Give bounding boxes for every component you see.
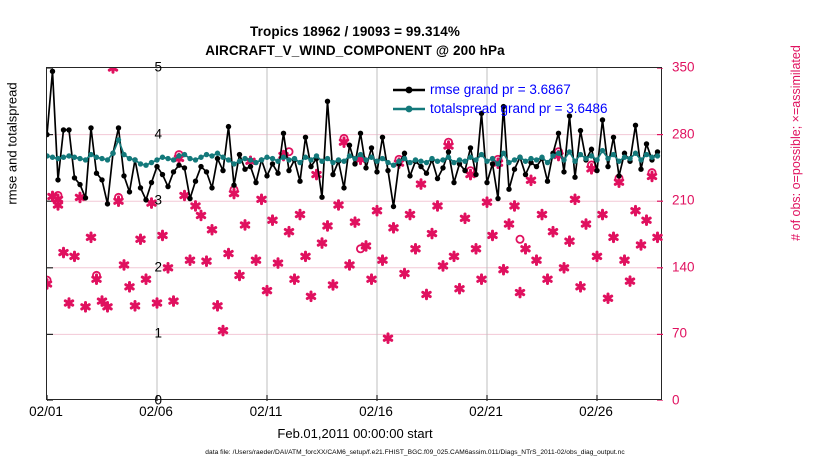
series-point: [561, 157, 566, 162]
series-point: [396, 159, 401, 164]
series-point: [484, 159, 489, 164]
obs-marker-assimilated: [109, 68, 116, 72]
series-point: [325, 99, 330, 104]
obs-marker-assimilated: [192, 202, 199, 211]
series-point: [226, 157, 231, 162]
series-point: [616, 173, 621, 178]
obs-marker-assimilated: [527, 176, 534, 185]
series-point: [47, 132, 50, 137]
obs-marker-assimilated: [159, 231, 166, 240]
series-point: [209, 153, 214, 158]
series-point: [528, 156, 533, 161]
series-point: [490, 161, 495, 166]
series-point: [402, 151, 407, 156]
obs-marker-assimilated: [637, 241, 644, 250]
series-point: [160, 155, 165, 160]
series-point: [105, 157, 110, 162]
series-point: [611, 152, 616, 157]
obs-marker-assimilated: [186, 256, 193, 265]
series-point: [204, 152, 209, 157]
series-point: [220, 155, 225, 160]
series-point: [88, 152, 93, 157]
series-point: [572, 159, 577, 164]
obs-marker-assimilated: [368, 275, 375, 284]
series-point: [154, 164, 159, 169]
obs-marker-assimilated: [153, 299, 160, 308]
series-point: [358, 131, 363, 136]
y-tick-label-right: 350: [672, 60, 718, 75]
legend-marker-totalspread: [392, 102, 426, 116]
series-point: [633, 123, 638, 128]
obs-marker-assimilated: [324, 222, 331, 231]
series-point: [600, 117, 605, 122]
series-point: [77, 156, 82, 161]
series-point: [567, 149, 572, 154]
series-point: [402, 156, 407, 161]
obs-marker-assimilated: [214, 302, 221, 311]
obs-marker-assimilated: [505, 220, 512, 229]
series-point: [534, 164, 539, 169]
obs-marker-assimilated: [104, 303, 111, 312]
series-point: [380, 156, 385, 161]
series-point: [253, 160, 258, 165]
series-point: [424, 171, 429, 176]
obs-marker-assimilated: [489, 231, 496, 240]
series-point: [534, 157, 539, 162]
x-tick-label: 02/11: [226, 404, 306, 419]
series-point: [182, 152, 187, 157]
series-point: [583, 156, 588, 161]
series-point: [182, 165, 187, 170]
series-point: [561, 169, 566, 174]
series-point: [325, 156, 330, 161]
series-point: [127, 156, 132, 161]
obs-marker-assimilated: [434, 202, 441, 211]
obs-marker-possible: [516, 236, 523, 243]
series-point: [578, 152, 583, 157]
series-point: [352, 161, 357, 166]
y-tick-label-right: 210: [672, 193, 718, 208]
series-point: [242, 167, 247, 172]
obs-marker-assimilated: [54, 201, 61, 210]
series-point: [297, 179, 302, 184]
obs-marker-assimilated: [236, 271, 243, 280]
y-tick-label-left: 4: [122, 126, 162, 141]
obs-marker-assimilated: [417, 180, 424, 189]
obs-marker-assimilated: [346, 261, 353, 270]
obs-marker-assimilated: [428, 229, 435, 238]
x-tick-label: 02/26: [556, 404, 636, 419]
obs-marker-assimilated: [379, 256, 386, 265]
obs-marker-assimilated: [65, 299, 72, 308]
series-point: [523, 159, 528, 164]
series-point: [176, 163, 181, 168]
series-point: [578, 128, 583, 133]
obs-marker-assimilated: [461, 214, 468, 223]
obs-marker-assimilated: [335, 201, 342, 210]
series-point: [413, 157, 418, 162]
obs-marker-assimilated: [533, 256, 540, 265]
series-point: [50, 69, 55, 74]
series-point: [347, 153, 352, 158]
series-point: [319, 195, 324, 200]
series-point: [215, 156, 220, 161]
series-point: [171, 157, 176, 162]
x-tick-label: 02/06: [116, 404, 196, 419]
obs-marker-assimilated: [450, 252, 457, 261]
series-point: [61, 127, 66, 132]
series-point: [116, 137, 121, 142]
series-point: [237, 159, 242, 164]
series-point: [72, 175, 77, 180]
figure-canvas: Tropics 18962 / 19093 = 99.314% AIRCRAFT…: [0, 0, 830, 470]
y-tick-label-right: 0: [672, 393, 718, 408]
series-point: [512, 167, 517, 172]
series-point: [545, 160, 550, 165]
series-point: [83, 195, 88, 200]
series-point: [248, 164, 253, 169]
obs-marker-assimilated: [439, 262, 446, 271]
obs-marker-assimilated: [318, 239, 325, 248]
obs-marker-assimilated: [604, 294, 611, 303]
series-point: [363, 157, 368, 162]
legend-item-rmse: rmse grand pr = 3.6867: [392, 80, 608, 99]
series-point: [66, 127, 71, 132]
obs-marker-assimilated: [577, 283, 584, 292]
obs-marker-assimilated: [478, 275, 485, 284]
series-point: [308, 157, 313, 162]
series-point: [77, 182, 82, 187]
data-file-caption: data file: /Users/raeder/DAI/ATM_forcXX/…: [0, 449, 830, 456]
series-point: [347, 143, 352, 148]
series-point: [160, 172, 165, 177]
obs-marker-assimilated: [500, 265, 507, 274]
series-point: [429, 156, 434, 161]
obs-marker-assimilated: [626, 277, 633, 286]
series-point: [385, 160, 390, 165]
obs-marker-assimilated: [593, 252, 600, 261]
series-point: [418, 164, 423, 169]
series-point: [545, 179, 550, 184]
y-tick-label-left: 3: [122, 193, 162, 208]
series-point: [501, 151, 506, 156]
series-point: [435, 159, 440, 164]
obs-marker-assimilated: [373, 206, 380, 215]
obs-marker-assimilated: [164, 264, 171, 273]
chart-legend: rmse grand pr = 3.6867 totalspread grand…: [392, 80, 608, 118]
obs-marker-assimilated: [71, 252, 78, 261]
series-point: [517, 155, 522, 160]
series-point: [281, 131, 286, 136]
series-point: [633, 151, 638, 156]
y-axis-label-right: # of obs: o=possible; ×=assimilated: [789, 0, 803, 343]
series-point: [248, 157, 253, 162]
x-axis-label: Feb.01,2011 00:00:00 start: [0, 426, 710, 441]
obs-marker-assimilated: [296, 210, 303, 219]
obs-marker-assimilated: [142, 275, 149, 284]
series-point: [149, 160, 154, 165]
series-point: [605, 164, 610, 169]
series-point: [451, 180, 456, 185]
series-point: [424, 160, 429, 165]
obs-marker-assimilated: [549, 227, 556, 236]
series-point: [490, 156, 495, 161]
obs-marker-assimilated: [456, 284, 463, 293]
series-point: [589, 147, 594, 152]
obs-marker-assimilated: [274, 259, 281, 268]
x-tick-label: 02/16: [336, 404, 416, 419]
obs-marker-assimilated: [269, 216, 276, 225]
series-point: [121, 173, 126, 178]
series-point: [369, 155, 374, 160]
series-point: [94, 171, 99, 176]
series-point: [600, 148, 605, 153]
series-point: [473, 172, 478, 177]
series-point: [473, 157, 478, 162]
series-point: [253, 180, 258, 185]
obs-marker-assimilated: [412, 244, 419, 253]
series-point: [627, 156, 632, 161]
series-point: [523, 172, 528, 177]
y-tick-label-right: 140: [672, 259, 718, 274]
obs-marker-assimilated: [538, 210, 545, 219]
series-point: [336, 157, 341, 162]
legend-label-rmse: rmse grand pr = 3.6867: [430, 80, 571, 99]
series-point: [303, 155, 308, 160]
series-point: [644, 141, 649, 146]
series-point: [495, 196, 500, 201]
series-point: [308, 164, 313, 169]
series-point: [149, 180, 154, 185]
legend-item-totalspread: totalspread grand pr = 3.6486: [392, 99, 608, 118]
series-point: [215, 151, 220, 156]
y-tick-label-left: 2: [122, 259, 162, 274]
obs-marker-assimilated: [423, 290, 430, 299]
series-point: [440, 157, 445, 162]
series-point: [655, 153, 660, 158]
series-point: [99, 156, 104, 161]
series-point: [440, 165, 445, 170]
obs-marker-assimilated: [76, 193, 83, 202]
obs-marker-assimilated: [197, 211, 204, 220]
series-point: [231, 183, 236, 188]
chart-title: Tropics 18962 / 19093 = 99.314% AIRCRAFT…: [0, 22, 710, 60]
obs-marker-assimilated: [560, 264, 567, 273]
obs-marker-assimilated: [401, 269, 408, 278]
series-point: [358, 152, 363, 157]
y-tick-label-left: 1: [122, 326, 162, 341]
series-point: [611, 135, 616, 140]
series-point: [539, 155, 544, 160]
series-point: [495, 161, 500, 166]
x-tick-label: 02/01: [6, 404, 86, 419]
series-point: [556, 151, 561, 156]
series-point: [88, 125, 93, 130]
series-point: [605, 156, 610, 161]
legend-label-totalspread: totalspread grand pr = 3.6486: [430, 99, 608, 118]
series-point: [407, 160, 412, 165]
series-point: [286, 157, 291, 162]
series-point: [330, 160, 335, 165]
series-point: [391, 204, 396, 209]
series-point: [270, 156, 275, 161]
obs-marker-assimilated: [610, 233, 617, 242]
obs-marker-assimilated: [87, 233, 94, 242]
y-tick-label-left: 5: [122, 60, 162, 75]
series-point: [132, 157, 137, 162]
series-point: [484, 180, 489, 185]
series-point: [275, 159, 280, 164]
series-point: [55, 156, 60, 161]
series-point: [226, 124, 231, 129]
series-point: [193, 179, 198, 184]
y-tick-label-right: 70: [672, 326, 718, 341]
series-point: [446, 155, 451, 160]
series-point: [187, 196, 192, 201]
series-point: [479, 152, 484, 157]
obs-marker-assimilated: [654, 233, 661, 242]
series-point: [468, 155, 473, 160]
obs-marker-assimilated: [307, 292, 314, 301]
series-point: [462, 159, 467, 164]
series-point: [204, 169, 209, 174]
obs-marker-assimilated: [263, 286, 270, 295]
series-point: [616, 159, 621, 164]
series-point: [171, 169, 176, 174]
series-point: [105, 201, 110, 206]
series-point: [369, 145, 374, 150]
series-point: [512, 157, 517, 162]
series-point: [99, 177, 104, 182]
obs-marker-assimilated: [643, 216, 650, 225]
series-point: [83, 157, 88, 162]
series-point: [209, 185, 214, 190]
series-point: [468, 145, 473, 150]
obs-marker-assimilated: [522, 244, 529, 253]
series-point: [264, 173, 269, 178]
chart-title-line1: Tropics 18962 / 19093 = 99.314%: [0, 22, 710, 41]
series-point: [407, 173, 412, 178]
series-point: [116, 125, 121, 130]
series-point: [264, 155, 269, 160]
obs-marker-assimilated: [483, 198, 490, 207]
series-point: [193, 157, 198, 162]
series-point: [374, 159, 379, 164]
series-point: [259, 157, 264, 162]
obs-marker-assimilated: [219, 326, 226, 335]
series-point: [341, 159, 346, 164]
obs-marker-assimilated: [599, 210, 606, 219]
obs-marker-assimilated: [511, 202, 518, 211]
series-point: [242, 156, 247, 161]
series-point: [374, 169, 379, 174]
series-point: [94, 155, 99, 160]
series-point: [66, 153, 71, 158]
obs-marker-assimilated: [632, 206, 639, 215]
y-tick-label-right: 280: [672, 126, 718, 141]
series-point: [319, 159, 324, 164]
series-point: [138, 161, 143, 166]
series-point: [314, 153, 319, 158]
series-point: [297, 160, 302, 165]
series-point: [589, 153, 594, 158]
series-point: [506, 187, 511, 192]
series-point: [61, 155, 66, 160]
obs-marker-assimilated: [60, 248, 67, 257]
series-point: [50, 155, 55, 160]
series-point: [47, 153, 50, 158]
series-point: [281, 155, 286, 160]
obs-marker-assimilated: [131, 302, 138, 311]
series-point: [275, 171, 280, 176]
series-point: [303, 135, 308, 140]
obs-marker-assimilated: [225, 249, 232, 258]
series-point: [286, 168, 291, 173]
obs-marker-assimilated: [544, 275, 551, 284]
series-point: [198, 155, 203, 160]
obs-marker-assimilated: [406, 210, 413, 219]
series-point: [352, 156, 357, 161]
y-axis-label-left: rmse and totalspread: [5, 0, 20, 344]
series-point: [143, 163, 148, 168]
obs-marker-assimilated: [516, 288, 523, 297]
series-point: [165, 184, 170, 189]
obs-marker-assimilated: [390, 224, 397, 233]
obs-marker-assimilated: [258, 195, 265, 204]
series-point: [649, 155, 654, 160]
obs-marker-assimilated: [208, 225, 215, 234]
series-point: [110, 151, 115, 156]
series-point: [385, 168, 390, 173]
obs-marker-assimilated: [252, 256, 259, 265]
series-point: [572, 175, 577, 180]
series-point: [418, 159, 423, 164]
obs-marker-assimilated: [582, 220, 589, 229]
series-point: [55, 177, 60, 182]
series-point: [622, 155, 627, 160]
series-point: [462, 168, 467, 173]
obs-marker-assimilated: [472, 244, 479, 253]
obs-marker-assimilated: [384, 334, 391, 343]
series-point: [187, 156, 192, 161]
obs-marker-assimilated: [351, 218, 358, 227]
obs-marker-assimilated: [285, 227, 292, 236]
series-point: [121, 152, 126, 157]
series-point: [380, 135, 385, 140]
series-point: [446, 149, 451, 154]
series-point: [363, 165, 368, 170]
x-tick-label: 02/21: [446, 404, 526, 419]
series-point: [451, 160, 456, 165]
series-point: [594, 168, 599, 173]
series-point: [330, 172, 335, 177]
series-point: [457, 157, 462, 162]
series-point: [231, 161, 236, 166]
chart-title-line2: AIRCRAFT_V_WIND_COMPONENT @ 200 hPa: [0, 41, 710, 60]
series-point: [220, 168, 225, 173]
obs-marker-assimilated: [203, 257, 210, 266]
series-point: [341, 185, 346, 190]
obs-marker-assimilated: [329, 281, 336, 290]
legend-marker-rmse: [392, 83, 426, 97]
series-point: [198, 164, 203, 169]
obs-marker-assimilated: [571, 195, 578, 204]
obs-marker-assimilated: [126, 283, 133, 292]
series-point: [644, 152, 649, 157]
obs-marker-assimilated: [137, 235, 144, 244]
series-point: [638, 167, 643, 172]
obs-marker-assimilated: [241, 221, 248, 230]
